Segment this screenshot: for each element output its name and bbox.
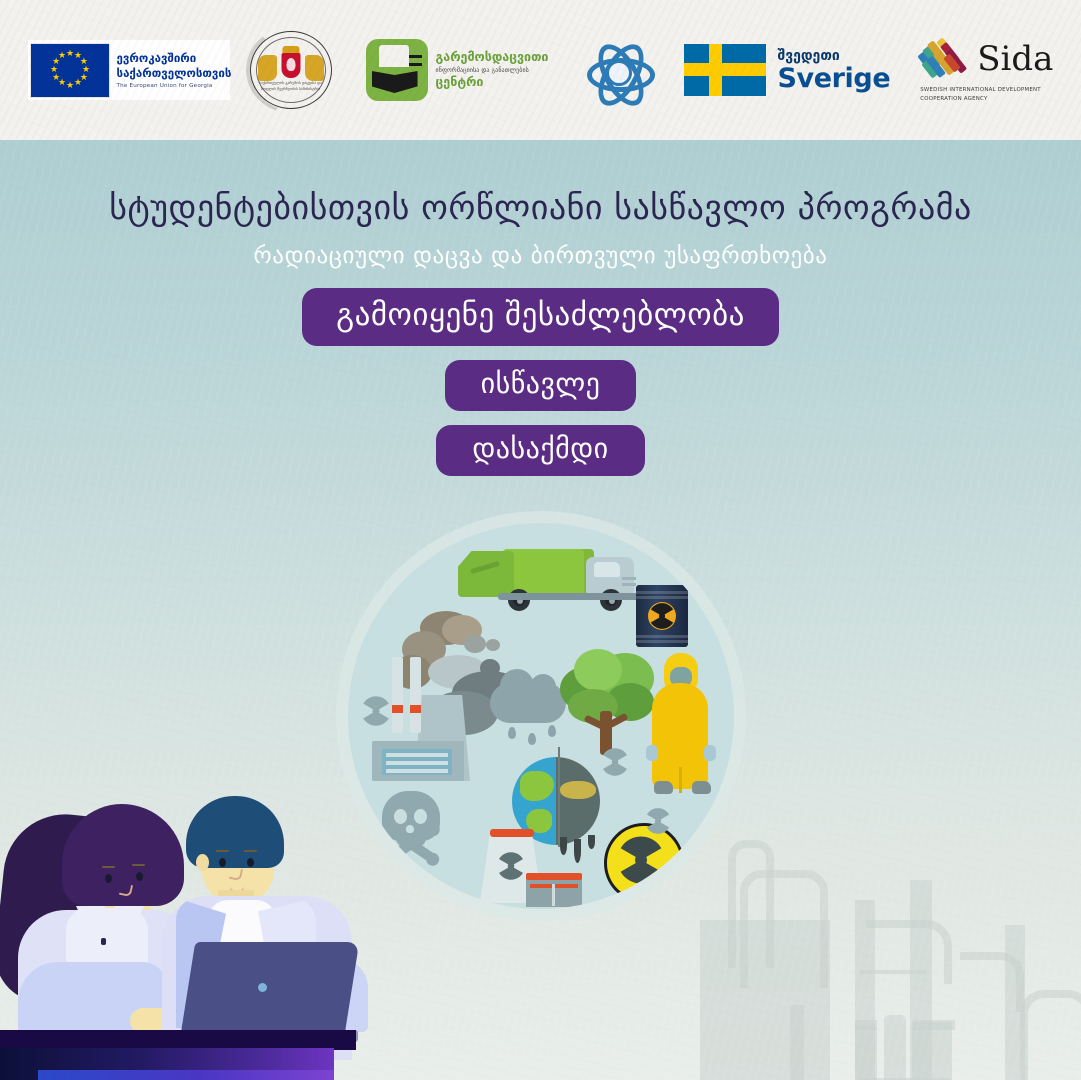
eu-star-icon: ★ <box>66 83 73 90</box>
radiation-trefoil-small-icon-1 <box>360 695 392 727</box>
partner-logo-bar: ★★★★★★★★★★★★ ევროკავშირი საქართველოსთვის… <box>0 0 1081 140</box>
radiation-trefoil-glyph <box>616 835 666 885</box>
radiation-trefoil-icon <box>496 851 526 881</box>
georgia-emblem-logo: საქართველოს გარემოს დაცვისა და სოფლის მე… <box>230 27 352 113</box>
cooling-tower-icon <box>474 829 584 907</box>
sida-weave-icon <box>920 36 968 82</box>
poster: ★★★★★★★★★★★★ ევროკავშირი საქართველოსთვის… <box>0 0 1081 1080</box>
sida-subtitle-line2: COOPERATION AGENCY <box>920 95 987 104</box>
sweden-flag-icon <box>684 44 766 96</box>
environment-illustration <box>348 523 734 909</box>
sweden-logo: შვედეთი Sverige <box>684 44 890 96</box>
badge-list: გამოიყენე შესაძლებლობა ისწავლე დასაქმდი <box>0 288 1081 476</box>
badge-opportunity[interactable]: გამოიყენე შესაძლებლობა <box>302 288 779 346</box>
skull-crossbones-icon <box>374 791 454 873</box>
eiec-line3: ცენტრი <box>436 75 549 90</box>
sida-wordmark: Sida <box>977 42 1053 76</box>
radiation-trefoil-icon <box>648 602 676 630</box>
radiation-trefoil-small-icon-3 <box>644 807 672 835</box>
garbage-truck-icon <box>454 543 644 613</box>
badge-learn[interactable]: ისწავლე <box>445 360 637 411</box>
badge-get-employed[interactable]: დასაქმდი <box>436 425 644 476</box>
eiec-line2: ინფორმაციისა და განათლების <box>436 67 549 74</box>
eu-star-icon: ★ <box>58 53 65 60</box>
eu-logo-line1: ევროკავშირი <box>117 51 232 65</box>
page-subtitle: რადიაციული დაცვა და ბირთვული უსაფრთხოება <box>0 243 1081 269</box>
sweden-line1: შვედეთი <box>777 49 890 63</box>
eu-star-icon: ★ <box>50 67 57 74</box>
sweden-line2: Sverige <box>777 65 890 92</box>
eu-star-icon: ★ <box>52 75 59 82</box>
circle-canvas <box>348 523 734 909</box>
desk-surface <box>0 1030 356 1050</box>
sida-subtitle-line1: SWEDISH INTERNATIONAL DEVELOPMENT <box>920 86 1041 95</box>
georgia-coat-of-arms-icon: საქართველოს გარემოს დაცვისა და სოფლის მე… <box>246 27 336 113</box>
radioactive-barrel-icon <box>636 585 690 649</box>
eu-star-icon: ★ <box>74 80 81 87</box>
radiation-trefoil-small-icon-2 <box>600 747 630 777</box>
hazmat-suit-person-icon <box>644 653 722 803</box>
georgia-emblem-caption: საქართველოს გარემოს დაცვისა და სოფლის მე… <box>259 81 323 92</box>
eiec-line1: გარემოსდაცვითი <box>436 50 549 65</box>
poster-body: სტუდენტებისთვის ორწლიანი სასწავლო პროგრა… <box>0 140 1081 1080</box>
eu-logo: ★★★★★★★★★★★★ ევროკავშირი საქართველოსთვის… <box>28 40 230 100</box>
eiec-logo: გარემოსდაცვითი ინფორმაციისა და განათლები… <box>366 39 549 101</box>
eu-logo-line2: საქართველოსთვის <box>117 66 232 80</box>
eu-logo-line3: The European Union for Georgia <box>117 83 232 89</box>
eu-flag-icon: ★★★★★★★★★★★★ <box>30 43 110 98</box>
atom-logo <box>562 38 670 102</box>
page-title: სტუდენტებისთვის ორწლიანი სასწავლო პროგრა… <box>0 188 1081 228</box>
environmental-centre-icon <box>366 39 428 101</box>
eu-star-icon: ★ <box>66 51 73 58</box>
sida-logo: Sida SWEDISH INTERNATIONAL DEVELOPMENT C… <box>904 36 1053 104</box>
atom-icon <box>584 38 648 102</box>
desk-accent-strip <box>38 1070 334 1080</box>
